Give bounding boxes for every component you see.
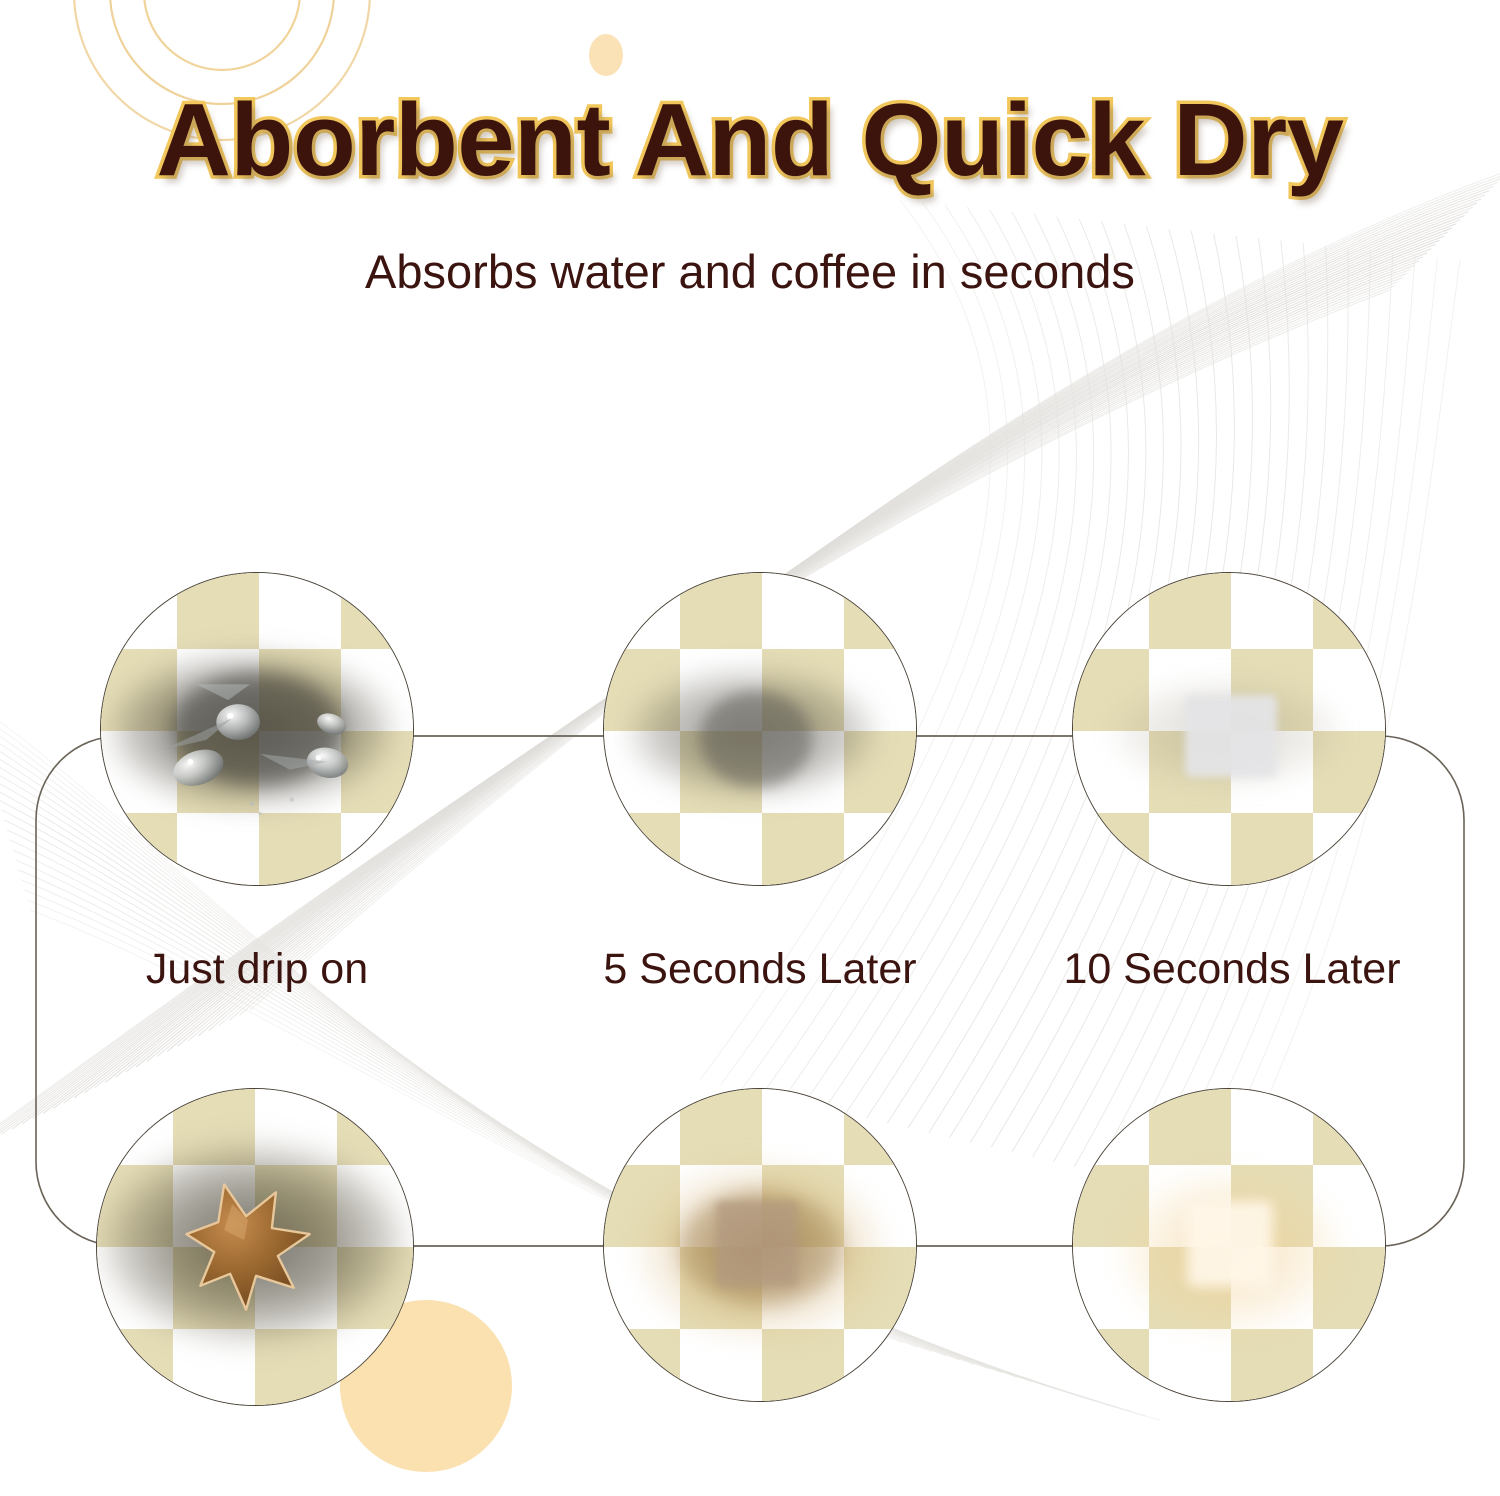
swatch-coffee-5s [603, 1088, 917, 1402]
peach-dot-icon [589, 34, 623, 76]
coffee-splat-icon [97, 1089, 413, 1405]
page-title: Aborbent And Quick Dry [0, 88, 1500, 191]
caption-just-drip-on: Just drip on [100, 948, 414, 991]
page-subtitle: Absorbs water and coffee in seconds [0, 248, 1500, 295]
swatch-water-5s [603, 572, 917, 886]
caption-5-seconds-later: 5 Seconds Later [588, 948, 932, 991]
swatch-coffee-drip-on [96, 1088, 414, 1406]
coffee-residual-core [1187, 1201, 1273, 1287]
swatch-coffee-10s [1072, 1088, 1386, 1402]
swatch-water-drip-on [100, 572, 414, 886]
promo-graphic: Aborbent And Quick Dry Absorbs water and… [0, 0, 1500, 1496]
swatch-water-10s [1072, 572, 1386, 886]
caption-10-seconds-later: 10 Seconds Later [1052, 948, 1412, 991]
water-droplets-icon [101, 573, 413, 885]
coffee-stain-center [716, 1201, 798, 1287]
water-wet-core [700, 691, 812, 787]
water-residual-core [1185, 695, 1277, 777]
